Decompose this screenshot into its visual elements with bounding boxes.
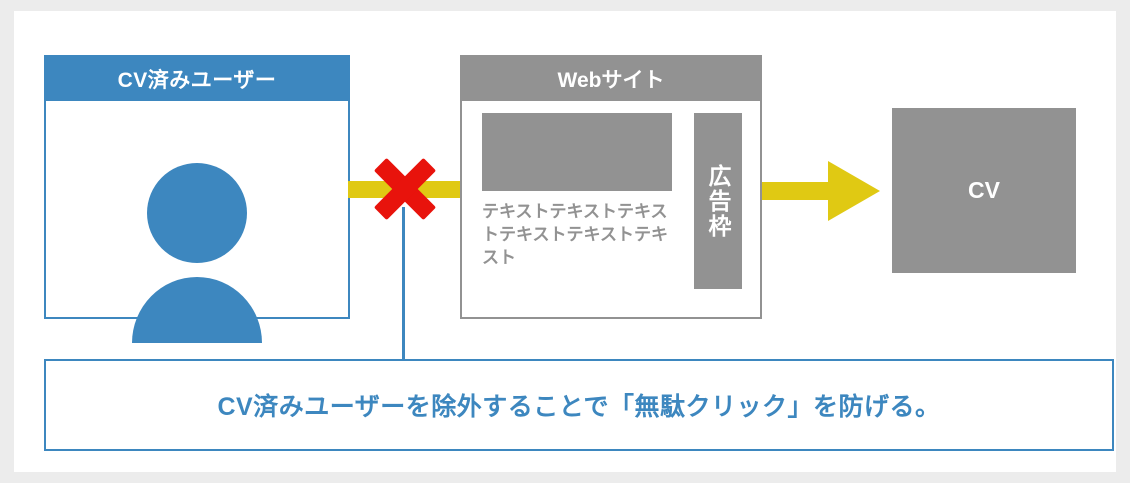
website-body-text: テキストテキストテキストテキストテキストテキスト xyxy=(482,201,672,270)
diagram-canvas: CV済みユーザー Webサイト テキストテキストテキストテキストテキストテキスト… xyxy=(0,0,1130,483)
cv-user-panel: CV済みユーザー xyxy=(44,55,350,319)
red-x-icon xyxy=(370,153,440,225)
image-placeholder xyxy=(482,113,672,191)
website-panel-title: Webサイト xyxy=(462,57,760,101)
caption-connector-line xyxy=(402,207,405,359)
arrow-shaft xyxy=(762,182,832,200)
cv-user-panel-title: CV済みユーザー xyxy=(46,57,348,101)
person-silhouette-icon xyxy=(46,101,348,317)
ad-slot-label: 広告枠 xyxy=(694,113,742,289)
website-panel: Webサイト テキストテキストテキストテキストテキストテキスト 広告枠 xyxy=(460,55,762,319)
diagram-sheet: CV済みユーザー Webサイト テキストテキストテキストテキストテキストテキスト… xyxy=(14,11,1116,472)
caption-box: CV済みユーザーを除外することで「無駄クリック」を防げる。 xyxy=(44,359,1114,451)
website-panel-body: テキストテキストテキストテキストテキストテキスト 広告枠 xyxy=(462,101,760,317)
avatar-body-shape xyxy=(132,277,262,343)
right-arrow-icon xyxy=(762,161,880,221)
cv-panel: CV xyxy=(892,108,1076,273)
arrow-head xyxy=(828,161,880,221)
caption-text: CV済みユーザーを除外することで「無駄クリック」を防げる。 xyxy=(218,387,941,423)
avatar-head-shape xyxy=(147,163,247,263)
